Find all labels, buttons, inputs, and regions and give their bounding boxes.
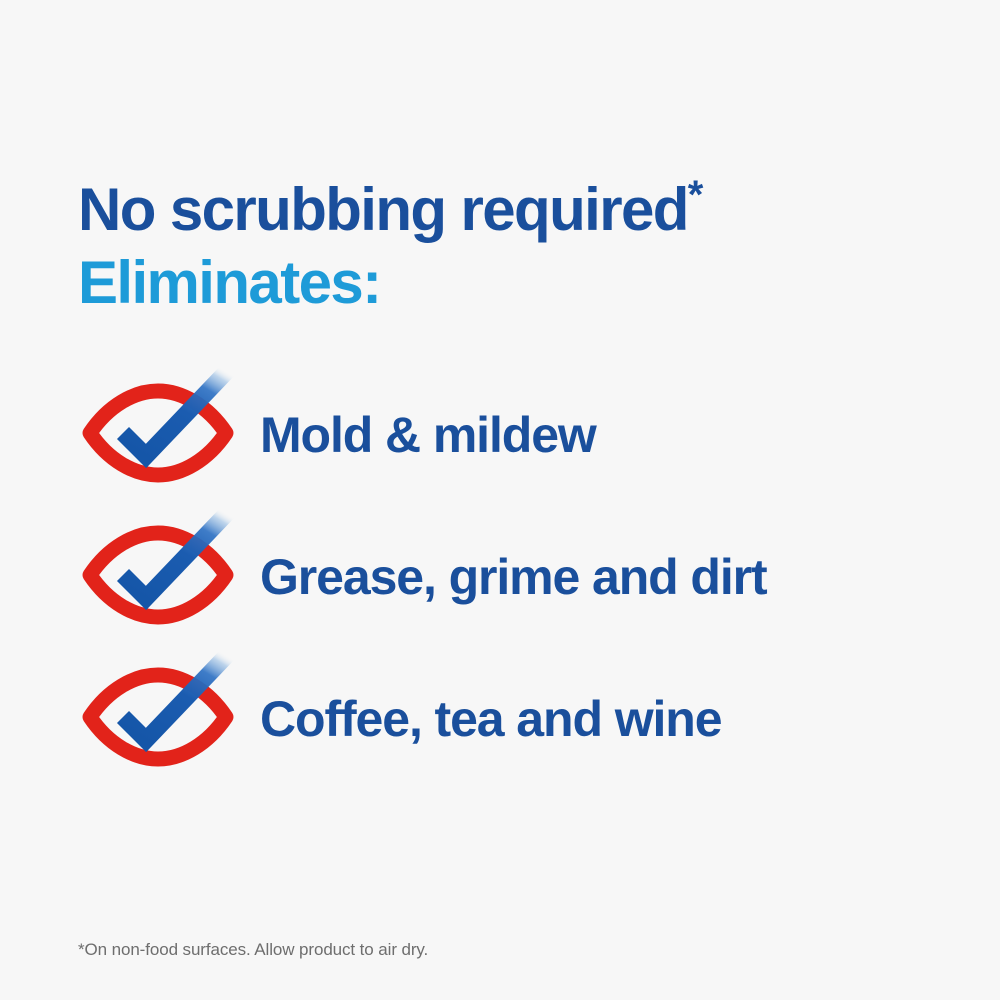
headline-primary: No scrubbing required* [78, 158, 958, 247]
headline-block: No scrubbing required* Eliminates: [78, 158, 958, 319]
promo-card: No scrubbing required* Eliminates: [0, 0, 1000, 1000]
list-item: Grease, grime and dirt [78, 527, 978, 627]
benefit-label: Coffee, tea and wine [260, 691, 721, 747]
footnote-text: *On non-food surfaces. Allow product to … [78, 938, 428, 962]
headline-secondary: Eliminates: [78, 247, 958, 319]
benefit-list: Mold & mildew [78, 385, 978, 769]
red-lens-blue-check-icon [78, 376, 238, 486]
headline-primary-text: No scrubbing required [78, 176, 688, 243]
benefit-label: Grease, grime and dirt [260, 549, 767, 605]
footnote-marker: * [688, 173, 704, 217]
benefit-label: Mold & mildew [260, 407, 596, 463]
red-lens-blue-check-icon [78, 518, 238, 628]
red-lens-blue-check-icon [78, 660, 238, 770]
list-item: Mold & mildew [78, 385, 978, 485]
list-item: Coffee, tea and wine [78, 669, 978, 769]
